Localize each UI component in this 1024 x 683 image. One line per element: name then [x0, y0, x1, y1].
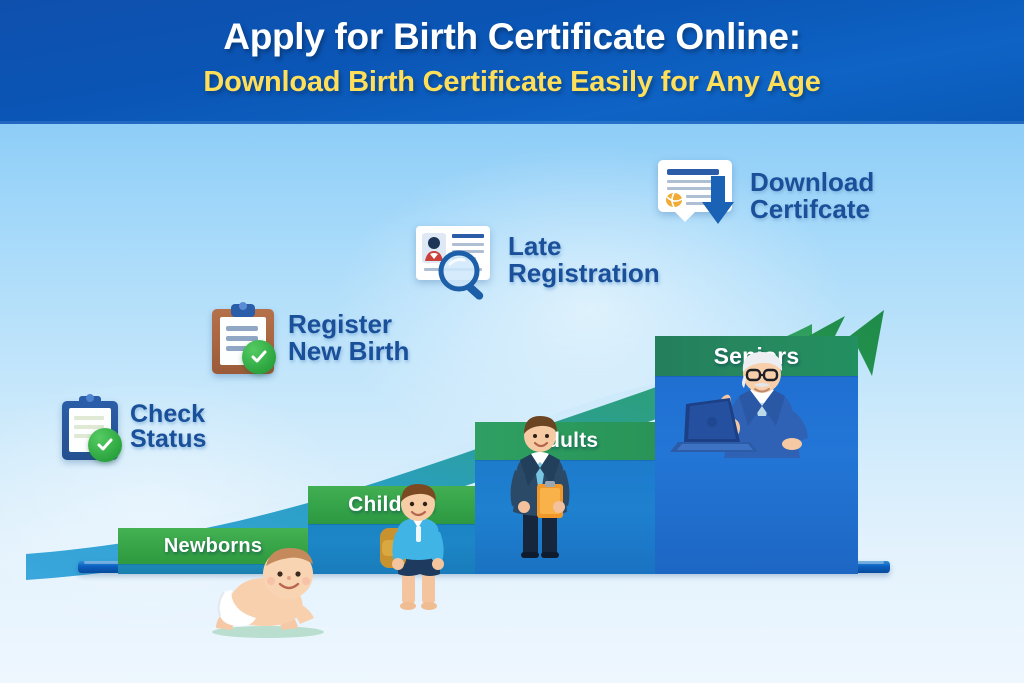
figure-businessman	[497, 412, 583, 560]
page-subtitle: Download Birth Certificate Easily for An…	[0, 66, 1024, 99]
figure-crawling-baby	[196, 544, 336, 639]
green-check-badge	[242, 340, 276, 374]
green-check-badge	[88, 428, 122, 462]
infographic-stage: Apply for Birth Certificate Online: Down…	[0, 0, 1024, 683]
figure-schoolboy	[372, 482, 464, 614]
clipboard-check-icon	[62, 394, 118, 460]
callout-late-registration[interactable]: Late Registration	[412, 224, 660, 296]
callout-label: Download Certifcate	[750, 169, 874, 222]
header-banner: Apply for Birth Certificate Online: Down…	[0, 0, 1024, 124]
callout-label: Register New Birth	[288, 311, 409, 364]
callout-download-certificate[interactable]: Download Certifcate	[658, 160, 874, 232]
callout-label: Check Status	[130, 402, 206, 453]
page-title: Apply for Birth Certificate Online:	[0, 16, 1024, 58]
figure-senior-with-laptop	[668, 352, 828, 462]
illustration-canvas: Newborns Children Adults Seniors	[0, 124, 1024, 683]
id-card-magnifier-icon	[412, 224, 498, 296]
callout-check-status[interactable]: Check Status	[62, 394, 206, 460]
down-arrow-icon	[700, 176, 736, 228]
callout-label: Late Registration	[508, 233, 660, 286]
callout-register-new-birth[interactable]: Register New Birth	[212, 302, 409, 374]
document-download-icon	[658, 160, 738, 232]
clipboard-check-icon	[212, 302, 274, 374]
